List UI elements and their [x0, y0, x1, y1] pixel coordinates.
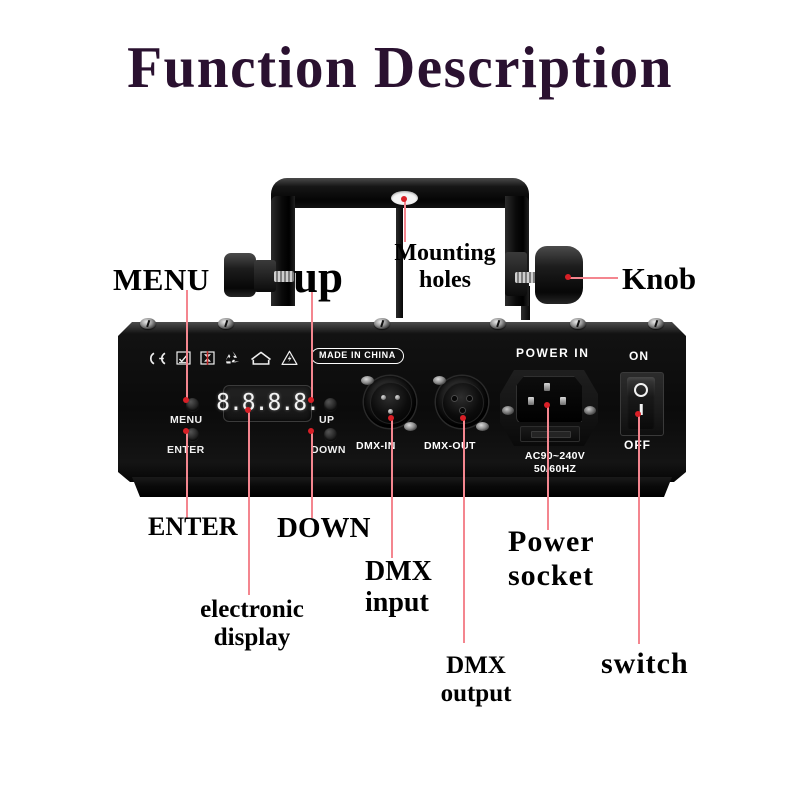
electronic-display: 8.8.8.8.	[223, 385, 312, 422]
ce-mark-icon	[145, 348, 167, 368]
power-socket-pin	[560, 397, 566, 405]
page-title: Function Description	[12, 33, 788, 102]
dmx-out-hole	[460, 408, 465, 413]
device-rear-panel: MADE IN CHINA 8.8.8.8. MENU ENTER UP DOW…	[118, 322, 686, 499]
leader-anchor-dmx-input	[388, 415, 394, 421]
leader-anchor-up	[308, 397, 314, 403]
display-value: 8.8.8.8.	[216, 392, 319, 415]
annotation-up: up	[293, 253, 343, 302]
menu-button-label: MENU	[170, 414, 203, 426]
leader-anchor-mounting	[401, 196, 407, 202]
leader-anchor-power	[544, 402, 550, 408]
dmx-in-screw	[404, 422, 417, 431]
dmx-in-connector[interactable]	[361, 376, 419, 434]
dmx-out-label: DMX-OUT	[424, 440, 476, 452]
indoor-use-house-icon	[250, 348, 272, 368]
leader-line-menu	[186, 290, 188, 400]
power-socket-pin	[544, 383, 550, 391]
panel-screw	[490, 318, 506, 329]
made-in-china-badge: MADE IN CHINA	[311, 348, 404, 364]
power-socket-pin	[528, 397, 534, 405]
leader-line-mounting	[404, 200, 406, 242]
annotation-mounting-holes: Mounting holes	[385, 240, 505, 294]
leader-anchor-display	[245, 407, 251, 413]
power-in-heading: POWER IN	[516, 346, 589, 360]
annotation-down: DOWN	[277, 513, 370, 544]
panel-screw	[648, 318, 664, 329]
knob-left-bolt	[274, 271, 294, 282]
panel-screw	[374, 318, 390, 329]
power-socket-screw	[502, 406, 514, 415]
leader-line-display	[248, 410, 250, 595]
leader-line-power	[547, 405, 549, 530]
high-voltage-warning-icon	[281, 348, 298, 368]
annotation-electronic-display: electronic display	[176, 596, 328, 651]
dmx-in-label: DMX-IN	[356, 440, 396, 452]
leader-line-knob	[568, 277, 618, 279]
weee-crossed-bin-icon	[200, 348, 215, 368]
up-button-label: UP	[319, 414, 334, 426]
annotation-enter: ENTER	[148, 513, 238, 541]
dmx-in-pin	[395, 395, 400, 400]
power-socket-recess	[516, 376, 584, 424]
power-rating-frequency: 50/60HZ	[510, 463, 600, 476]
down-button[interactable]	[324, 428, 337, 441]
power-socket-screw	[584, 406, 596, 415]
knob-right-cap	[535, 246, 583, 304]
read-manual-boxed-icon	[176, 348, 191, 368]
screenshot-root: Function Description	[0, 0, 800, 800]
power-socket[interactable]	[500, 370, 598, 446]
annotation-dmx-input: DMX input	[365, 556, 432, 619]
leader-anchor-switch	[635, 411, 641, 417]
leader-anchor-enter	[183, 428, 189, 434]
annotation-menu: MENU	[113, 263, 210, 296]
up-button[interactable]	[324, 398, 337, 411]
certification-icons	[145, 348, 298, 368]
power-socket-fuse-drawer	[520, 426, 580, 442]
dmx-out-screw	[433, 376, 446, 385]
leader-anchor-knob	[565, 274, 571, 280]
leader-line-up	[311, 290, 313, 400]
switch-on-label: ON	[629, 349, 649, 363]
dmx-out-hole	[452, 396, 457, 401]
power-rating: AC90~240V 50/60HZ	[510, 450, 600, 477]
dmx-in-pin	[388, 409, 393, 414]
panel-bottom-edge	[124, 477, 680, 497]
switch-off-symbol-icon	[634, 383, 648, 397]
leader-line-switch	[638, 414, 640, 644]
panel-screw	[140, 318, 156, 329]
leader-line-dmx-input	[391, 418, 393, 558]
knob-right-bolt	[515, 272, 537, 283]
panel-screw	[570, 318, 586, 329]
knob-left[interactable]	[224, 248, 294, 308]
dmx-in-screw	[361, 376, 374, 385]
recycle-mobius-icon	[224, 348, 241, 368]
annotation-switch: switch	[601, 648, 689, 680]
leader-anchor-down	[308, 428, 314, 434]
leader-line-dmx-output	[463, 418, 465, 643]
leader-line-down	[311, 430, 313, 518]
annotation-knob: Knob	[622, 262, 696, 295]
leader-anchor-menu	[183, 397, 189, 403]
annotation-dmx-output: DMX output	[428, 652, 524, 708]
dmx-out-connector[interactable]	[433, 376, 491, 434]
dmx-out-screw	[476, 422, 489, 431]
dmx-out-hole	[467, 396, 472, 401]
leader-anchor-dmx-output	[460, 415, 466, 421]
leader-line-enter	[186, 430, 188, 518]
annotation-power-socket: Power socket	[508, 525, 595, 592]
down-button-label: DOWN	[311, 444, 346, 456]
knob-left-cap	[224, 253, 256, 297]
power-switch[interactable]	[620, 372, 662, 434]
knob-left-plate	[254, 260, 276, 292]
power-rating-voltage: AC90~240V	[510, 450, 600, 463]
dmx-in-pin	[381, 395, 386, 400]
panel-screw	[218, 318, 234, 329]
